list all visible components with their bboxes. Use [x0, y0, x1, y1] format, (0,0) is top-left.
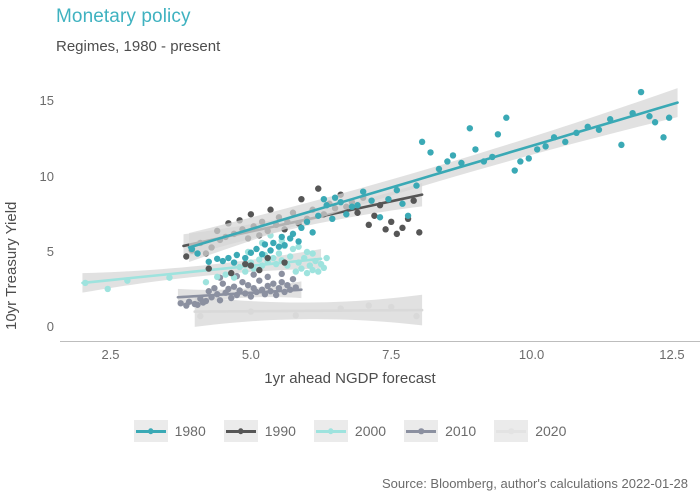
data-point — [315, 185, 321, 191]
data-point — [265, 255, 271, 261]
data-point — [222, 271, 228, 277]
data-point — [458, 160, 464, 166]
data-point — [542, 143, 548, 149]
data-point — [262, 241, 268, 247]
data-point — [248, 250, 254, 256]
legend-key-icon — [134, 420, 168, 442]
legend-item-1980[interactable]: 1980 — [134, 420, 206, 442]
data-point — [585, 124, 591, 130]
data-point — [276, 250, 282, 256]
data-point — [217, 297, 223, 303]
data-point — [279, 234, 285, 240]
data-point — [236, 264, 242, 270]
data-point — [646, 113, 652, 119]
data-point — [427, 149, 433, 155]
data-point — [287, 253, 293, 259]
data-point — [385, 196, 391, 202]
legend-label: 1990 — [265, 423, 296, 439]
data-point — [214, 291, 220, 297]
data-point — [290, 246, 296, 252]
data-point — [551, 134, 557, 140]
data-point — [309, 250, 315, 256]
data-point — [267, 247, 273, 253]
data-point — [304, 219, 310, 225]
data-point — [410, 197, 416, 203]
legend-key-icon — [404, 420, 438, 442]
data-point — [245, 282, 251, 288]
data-point — [295, 238, 301, 244]
data-point — [225, 286, 231, 292]
data-point — [413, 182, 419, 188]
data-point — [399, 201, 405, 207]
data-point — [228, 295, 234, 301]
data-point — [332, 194, 338, 200]
monetary-policy-chart: Monetary policy Regimes, 1980 - present … — [0, 0, 700, 500]
data-point — [315, 268, 321, 274]
legend-item-1990[interactable]: 1990 — [224, 420, 296, 442]
data-point — [279, 271, 285, 277]
data-point — [413, 313, 419, 319]
data-point — [270, 255, 276, 261]
data-point — [301, 255, 307, 261]
data-point — [82, 280, 88, 286]
data-point — [377, 202, 383, 208]
data-point — [371, 213, 377, 219]
data-point — [189, 246, 195, 252]
data-point — [194, 302, 200, 308]
data-point — [281, 259, 287, 265]
data-point — [206, 288, 212, 294]
data-point — [124, 277, 130, 283]
data-point — [349, 204, 355, 210]
legend-item-2010[interactable]: 2010 — [404, 420, 476, 442]
data-point — [256, 267, 262, 273]
data-point — [270, 240, 276, 246]
data-point — [329, 216, 335, 222]
data-point — [495, 131, 501, 137]
data-point — [248, 293, 254, 299]
data-point — [298, 265, 304, 271]
data-point — [231, 283, 237, 289]
legend-label: 1980 — [175, 423, 206, 439]
data-point — [248, 308, 254, 314]
data-point — [419, 139, 425, 145]
data-point — [206, 259, 212, 265]
data-point — [228, 270, 234, 276]
data-point — [343, 211, 349, 217]
data-point — [259, 251, 265, 257]
data-point — [298, 225, 304, 231]
data-point — [489, 154, 495, 160]
data-point — [321, 265, 327, 271]
data-point — [105, 286, 111, 292]
data-point — [472, 146, 478, 152]
data-point — [281, 242, 287, 248]
data-point — [309, 229, 315, 235]
data-point — [450, 152, 456, 158]
data-point — [293, 284, 299, 290]
series-1980 — [189, 88, 678, 266]
data-point — [279, 279, 285, 285]
data-point — [323, 255, 329, 261]
data-point — [629, 110, 635, 116]
data-point — [467, 125, 473, 131]
data-point — [304, 270, 310, 276]
data-point — [503, 115, 509, 121]
legend-item-2020[interactable]: 2020 — [494, 420, 566, 442]
data-point — [234, 252, 240, 258]
data-point — [660, 134, 666, 140]
data-point — [304, 249, 310, 255]
data-point — [293, 268, 299, 274]
data-point — [270, 280, 276, 286]
legend-key-icon — [314, 420, 348, 442]
data-point — [388, 304, 394, 310]
data-point — [338, 305, 344, 311]
data-point — [444, 158, 450, 164]
data-point — [377, 214, 383, 220]
fit-line-1980 — [189, 103, 677, 248]
data-point — [276, 285, 282, 291]
data-point — [239, 279, 245, 285]
data-point — [242, 268, 248, 274]
data-point — [276, 244, 282, 250]
data-point — [309, 267, 315, 273]
data-point — [200, 299, 206, 305]
data-point — [338, 199, 344, 205]
data-point — [267, 288, 273, 294]
data-point — [368, 197, 374, 203]
data-point — [203, 279, 209, 285]
data-point — [242, 261, 248, 267]
data-point — [208, 294, 214, 300]
data-point — [354, 210, 360, 216]
data-point — [295, 259, 301, 265]
data-point — [242, 255, 248, 261]
data-point — [607, 116, 613, 122]
data-point — [312, 258, 318, 264]
data-point — [250, 271, 256, 277]
data-point — [394, 187, 400, 193]
data-point — [214, 274, 220, 280]
data-point — [323, 202, 329, 208]
data-point — [220, 280, 226, 286]
data-point — [315, 213, 321, 219]
data-point — [405, 213, 411, 219]
legend-key-icon — [494, 420, 528, 442]
data-point — [354, 202, 360, 208]
data-point — [273, 261, 279, 267]
data-point — [183, 253, 189, 259]
data-point — [287, 287, 293, 293]
data-point — [194, 250, 200, 256]
data-point — [534, 146, 540, 152]
data-point — [281, 289, 287, 295]
data-point — [652, 119, 658, 125]
legend-label: 2000 — [355, 423, 386, 439]
data-point — [618, 142, 624, 148]
data-point — [666, 115, 672, 121]
legend-label: 2020 — [535, 423, 566, 439]
data-point — [211, 285, 217, 291]
data-point — [360, 188, 366, 194]
data-point — [273, 292, 279, 298]
data-point — [436, 166, 442, 172]
data-point — [399, 225, 405, 231]
data-point — [178, 300, 184, 306]
data-point — [253, 246, 259, 252]
data-point — [225, 255, 231, 261]
data-point — [197, 313, 203, 319]
data-point — [573, 130, 579, 136]
data-point — [183, 302, 189, 308]
legend: 19801990200020102020 — [0, 420, 700, 442]
data-point — [382, 226, 388, 232]
data-point — [256, 277, 262, 283]
data-point — [366, 222, 372, 228]
data-point — [242, 290, 248, 296]
data-point — [366, 302, 372, 308]
legend-label: 2010 — [445, 423, 476, 439]
data-point — [321, 196, 327, 202]
data-point — [290, 276, 296, 282]
data-point — [416, 229, 422, 235]
data-point — [526, 155, 532, 161]
data-point — [481, 158, 487, 164]
data-point — [512, 167, 518, 173]
data-point — [262, 291, 268, 297]
legend-item-2000[interactable]: 2000 — [314, 420, 386, 442]
data-point — [236, 287, 242, 293]
data-point — [562, 139, 568, 145]
data-point — [166, 274, 172, 280]
legend-key-icon — [224, 420, 258, 442]
source-caption: Source: Bloomberg, author's calculations… — [382, 476, 688, 491]
data-point — [394, 231, 400, 237]
data-point — [253, 289, 259, 295]
fit-line-2020 — [195, 310, 422, 312]
data-point — [293, 312, 299, 318]
data-point — [265, 274, 271, 280]
data-point — [248, 262, 254, 268]
data-point — [388, 219, 394, 225]
data-point — [596, 127, 602, 133]
data-point — [298, 196, 304, 202]
data-point — [220, 258, 226, 264]
data-point — [214, 256, 220, 262]
data-point — [248, 211, 254, 217]
data-point — [638, 89, 644, 95]
data-point — [231, 259, 237, 265]
data-point — [517, 158, 523, 164]
data-point — [290, 231, 296, 237]
data-point — [206, 265, 212, 271]
